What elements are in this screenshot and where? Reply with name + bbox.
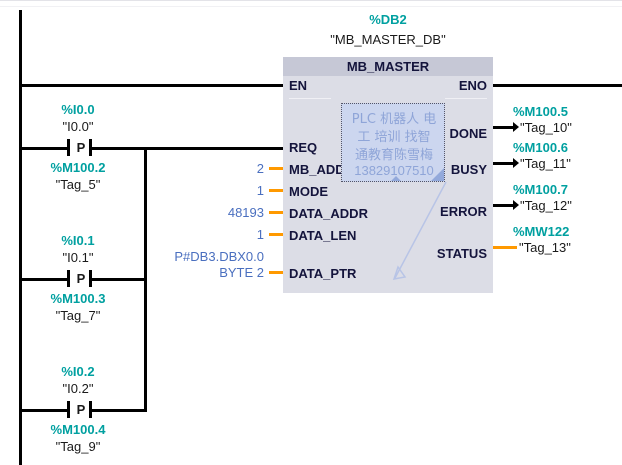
- branch-2-wire-left: [19, 278, 67, 281]
- positive-edge-icon: P: [72, 138, 90, 157]
- mb-addr-input-wire: [269, 167, 283, 170]
- busy-output-wire: [493, 162, 514, 165]
- contact-bar-left: [67, 270, 70, 287]
- block-title: MB_MASTER: [283, 57, 493, 76]
- branch-3-lower-tag: "Tag_9": [28, 439, 128, 454]
- branch-3-wire-right: [92, 409, 147, 412]
- branch-3-lower-address: %M100.4: [28, 422, 128, 437]
- branch-3-upper-tag: "I0.2": [28, 381, 128, 396]
- positive-edge-icon: P: [72, 400, 90, 419]
- mode-input-wire: [269, 189, 283, 192]
- error-output-wire: [493, 204, 514, 207]
- done-output-address: %M100.5: [513, 104, 613, 119]
- port-data-ptr[interactable]: DATA_PTR: [289, 266, 356, 281]
- watermark-callout: PLC 机器人 电 工 培训 找智 通教育陈雪梅 13829107510: [341, 103, 445, 182]
- port-mode[interactable]: MODE: [289, 184, 328, 199]
- data-len-value[interactable]: 1: [169, 227, 264, 242]
- data-addr-value[interactable]: 48193: [169, 205, 264, 220]
- busy-output-tag: "Tag_11": [520, 156, 620, 171]
- data-addr-input-wire: [269, 211, 283, 214]
- watermark-line-2: 工 培训 找智: [342, 126, 445, 145]
- busy-output-arrow-icon: [513, 158, 519, 168]
- positive-edge-icon: P: [72, 269, 90, 288]
- data-ptr-value-line2[interactable]: BYTE 2: [159, 265, 264, 280]
- branch-2-wire-right: [92, 278, 147, 281]
- mode-value[interactable]: 1: [169, 183, 264, 198]
- branch-1-lower-address: %M100.2: [28, 160, 128, 175]
- port-req[interactable]: REQ: [289, 140, 317, 155]
- en-rung-wire: [19, 84, 283, 87]
- branch-3-wire-left: [19, 409, 67, 412]
- branch-3-upper-address: %I0.2: [28, 364, 128, 379]
- branch-1-wire-left: [19, 147, 67, 150]
- branch-2-upper-tag: "I0.1": [28, 250, 128, 265]
- mb-addr-value[interactable]: 2: [169, 161, 264, 176]
- branch-3-p-contact[interactable]: P: [67, 401, 92, 418]
- contact-bar-left: [67, 401, 70, 418]
- status-output-address: %MW122: [513, 224, 613, 239]
- en-underline: [289, 98, 331, 99]
- watermark-line-3: 通教育陈雪梅: [342, 144, 445, 163]
- block-db-name: "MB_MASTER_DB": [283, 32, 493, 47]
- branch-2-p-contact[interactable]: P: [67, 270, 92, 287]
- done-output-tag: "Tag_10": [520, 120, 620, 135]
- eno-output-wire: [493, 84, 622, 87]
- branch-1-wire-right: [92, 147, 147, 150]
- branch-2-lower-address: %M100.3: [28, 291, 128, 306]
- pane-top-border: [0, 0, 622, 1]
- data-len-input-wire: [269, 233, 283, 236]
- block-db-address: %DB2: [283, 12, 493, 27]
- data-ptr-value-line1[interactable]: P#DB3.DBX0.0: [159, 249, 264, 264]
- contact-bar-left: [67, 139, 70, 156]
- done-output-wire: [493, 126, 514, 129]
- port-busy[interactable]: BUSY: [451, 162, 487, 177]
- status-output-wire: [493, 246, 517, 249]
- port-data-addr[interactable]: DATA_ADDR: [289, 206, 368, 221]
- error-output-tag: "Tag_12": [520, 198, 620, 213]
- pane-top-border-secondary: [0, 6, 622, 7]
- lad-network-canvas: %I0.0 "I0.0" P %M100.2 "Tag_5" %I0.1 "I0…: [0, 0, 622, 465]
- branch-2-upper-address: %I0.1: [28, 233, 128, 248]
- done-output-arrow-icon: [513, 122, 519, 132]
- eno-underline: [445, 98, 487, 99]
- branch-1-upper-address: %I0.0: [28, 102, 128, 117]
- branch-1-lower-tag: "Tag_5": [28, 177, 128, 192]
- callout-leader: [380, 178, 450, 293]
- status-output-tag: "Tag_13": [519, 240, 619, 255]
- watermark-line-1: PLC 机器人 电: [342, 108, 445, 127]
- left-power-rail: [19, 10, 22, 465]
- port-eno[interactable]: ENO: [459, 78, 487, 93]
- error-output-arrow-icon: [513, 200, 519, 210]
- error-output-address: %M100.7: [513, 182, 613, 197]
- branch-1-p-contact[interactable]: P: [67, 139, 92, 156]
- port-data-len[interactable]: DATA_LEN: [289, 228, 356, 243]
- port-done[interactable]: DONE: [449, 126, 487, 141]
- callout-resize-grip[interactable]: [431, 168, 444, 181]
- branch-2-lower-tag: "Tag_7": [28, 308, 128, 323]
- branch-1-upper-tag: "I0.0": [28, 119, 128, 134]
- port-en[interactable]: EN: [289, 78, 307, 93]
- callout-nub-icon: [390, 176, 402, 182]
- busy-output-address: %M100.6: [513, 140, 613, 155]
- data-ptr-input-wire: [269, 271, 283, 274]
- req-rung-wire: [144, 147, 283, 150]
